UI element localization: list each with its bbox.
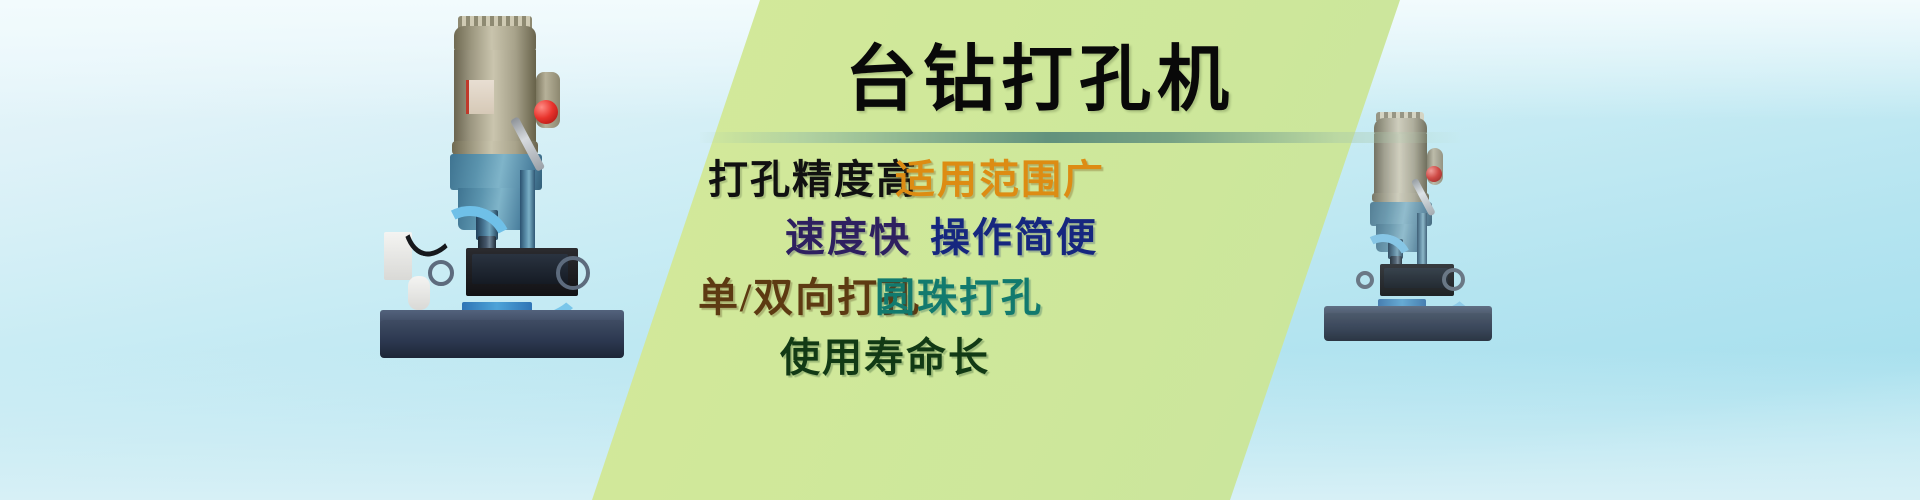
page-title: 台钻打孔机 [690, 44, 1390, 116]
feature-item-0: 打孔精度高 [708, 160, 918, 200]
banner-content: 台钻打孔机 打孔精度高 适用范围广 速度快 操作简便 单/双向打孔 圆珠打孔 使… [0, 0, 1920, 500]
feature-list: 打孔精度高 适用范围广 速度快 操作简便 单/双向打孔 圆珠打孔 使用寿命长 [600, 158, 1380, 398]
feature-item-6: 使用寿命长 [780, 338, 990, 378]
feature-item-5: 圆珠打孔 [875, 278, 1043, 318]
feature-row-2: 速度快 操作简便 [600, 218, 1380, 278]
product-banner: 台钻打孔机 打孔精度高 适用范围广 速度快 操作简便 单/双向打孔 圆珠打孔 使… [0, 0, 1920, 500]
feature-row-4: 使用寿命长 [600, 338, 1380, 398]
feature-row-1: 打孔精度高 适用范围广 [600, 158, 1380, 218]
title-divider [700, 132, 1460, 143]
feature-row-3: 单/双向打孔 圆珠打孔 [600, 278, 1380, 338]
feature-item-1: 适用范围广 [895, 160, 1105, 200]
feature-item-2: 速度快 [785, 218, 911, 258]
feature-item-3: 操作简便 [930, 218, 1098, 258]
